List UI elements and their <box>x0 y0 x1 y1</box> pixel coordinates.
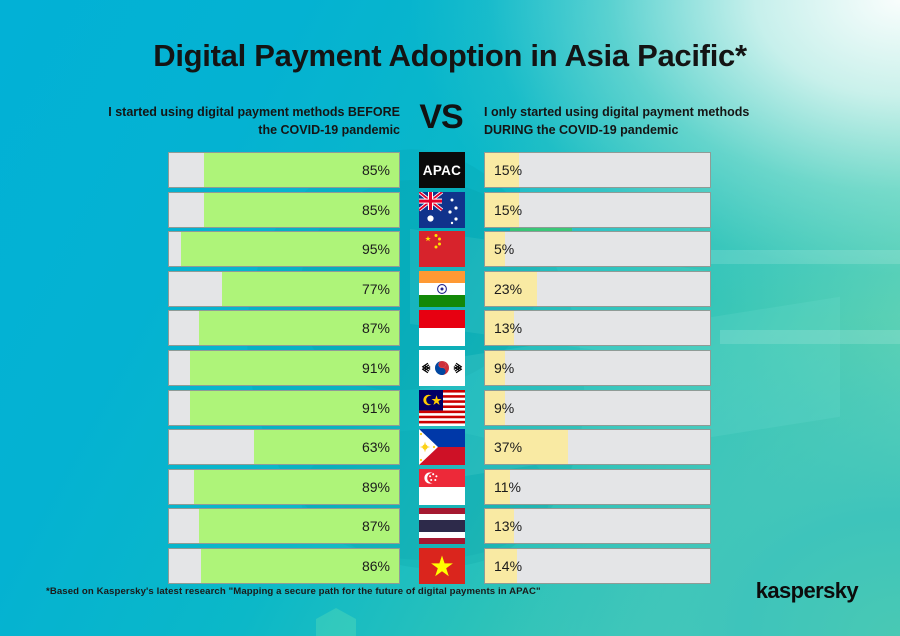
bar-before-china: 95% <box>168 231 400 267</box>
bar-during-indonesia: 13% <box>484 310 711 346</box>
flag-india <box>419 271 465 307</box>
bar-during-apac: 15% <box>484 152 711 188</box>
footnote: *Based on Kaspersky's latest research "M… <box>46 586 541 597</box>
bar-before-vietnam: 86% <box>168 548 400 584</box>
bar-value-during: 5% <box>494 232 514 266</box>
bar-value-before: 91% <box>362 391 390 425</box>
bar-before-thailand: 87% <box>168 508 400 544</box>
flag-vietnam <box>419 548 465 584</box>
bar-value-during: 15% <box>494 153 522 187</box>
bar-during-malaysia: 9% <box>484 390 711 426</box>
page-title: Digital Payment Adoption in Asia Pacific… <box>0 38 900 74</box>
bar-value-before: 87% <box>362 509 390 543</box>
bar-during-south-korea: 9% <box>484 350 711 386</box>
bar-value-before: 87% <box>362 311 390 345</box>
bar-before-india: 77% <box>168 271 400 307</box>
bar-value-during: 23% <box>494 272 522 306</box>
bar-value-during: 9% <box>494 391 514 425</box>
bar-before-south-korea: 91% <box>168 350 400 386</box>
bar-value-during: 13% <box>494 509 522 543</box>
vs-label: VS <box>406 98 476 137</box>
bar-before-indonesia: 87% <box>168 310 400 346</box>
bar-during-philippines: 37% <box>484 429 711 465</box>
flag-australia <box>419 192 465 228</box>
bar-during-vietnam: 14% <box>484 548 711 584</box>
bar-value-before: 63% <box>362 430 390 464</box>
bar-value-before: 86% <box>362 549 390 583</box>
flag-china <box>419 231 465 267</box>
bar-value-before: 89% <box>362 470 390 504</box>
legend-label-before: I started using digital payment methods … <box>100 104 400 140</box>
bar-before-singapore: 89% <box>168 469 400 505</box>
apac-label: APAC <box>419 152 465 188</box>
bar-value-before: 91% <box>362 351 390 385</box>
bar-before-malaysia: 91% <box>168 390 400 426</box>
bar-value-during: 14% <box>494 549 522 583</box>
legend-label-during: I only started using digital payment met… <box>484 104 794 140</box>
flag-philippines <box>419 429 465 465</box>
bar-value-during: 15% <box>494 193 522 227</box>
infographic-content: Digital Payment Adoption in Asia Pacific… <box>0 0 900 636</box>
bar-value-during: 11% <box>494 470 521 504</box>
bar-value-before: 77% <box>362 272 390 306</box>
flag-thailand <box>419 508 465 544</box>
bar-during-thailand: 13% <box>484 508 711 544</box>
flag-south-korea <box>419 350 465 386</box>
bar-value-during: 13% <box>494 311 522 345</box>
bar-before-philippines: 63% <box>168 429 400 465</box>
bar-before-apac: 85% <box>168 152 400 188</box>
bar-value-during: 37% <box>494 430 522 464</box>
bar-during-australia: 15% <box>484 192 711 228</box>
bar-during-china: 5% <box>484 231 711 267</box>
bar-value-before: 85% <box>362 193 390 227</box>
bar-value-before: 85% <box>362 153 390 187</box>
bar-value-before: 95% <box>362 232 390 266</box>
bar-during-singapore: 11% <box>484 469 711 505</box>
flag-indonesia <box>419 310 465 346</box>
bar-value-during: 9% <box>494 351 514 385</box>
flag-malaysia <box>419 390 465 426</box>
bar-during-india: 23% <box>484 271 711 307</box>
kaspersky-logo: kaspersky <box>756 578 858 604</box>
flag-singapore <box>419 469 465 505</box>
bar-before-australia: 85% <box>168 192 400 228</box>
